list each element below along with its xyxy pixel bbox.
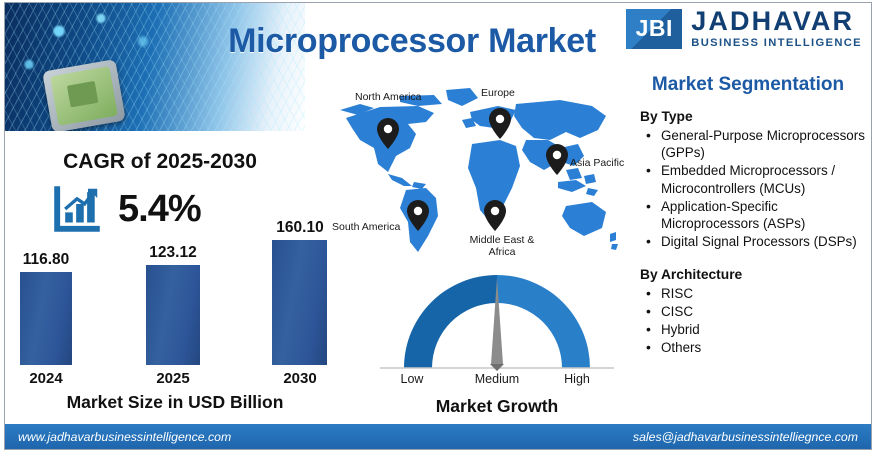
map-label-asia-pacific: Asia Pacific — [570, 157, 624, 169]
bar-value-2025: 123.12 — [135, 244, 211, 262]
list-item: Digital Signal Processors (DSPs) — [640, 233, 866, 250]
bar-2024 — [20, 272, 72, 365]
world-map: North America Europe Asia Pacific South … — [330, 82, 620, 267]
gauge-tick-high: High — [542, 372, 612, 386]
gauge-tick-medium: Medium — [462, 372, 532, 386]
microprocessor-chip-icon — [42, 59, 126, 131]
bar-chart-caption: Market Size in USD Billion — [10, 392, 340, 413]
segmentation-spacer — [640, 252, 866, 266]
footer-website-link[interactable]: www.jadhavarbusinessintelligence.com — [18, 430, 231, 444]
bar-category-2030: 2030 — [262, 370, 338, 387]
list-item: CISC — [640, 303, 866, 320]
list-item: Embedded Microprocessors / Microcontroll… — [640, 162, 866, 197]
segmentation-heading-by-type: By Type — [640, 108, 866, 126]
bar-value-2030: 160.10 — [262, 219, 338, 237]
bar-2030 — [272, 240, 327, 365]
logo-badge-text: JBI — [636, 15, 673, 42]
logo-badge-jbi: JBI — [626, 9, 682, 49]
list-item: Others — [640, 339, 866, 356]
segmentation-list-by-architecture: RISC CISC Hybrid Others — [640, 285, 866, 357]
map-label-europe: Europe — [481, 87, 515, 99]
gauge-tick-low: Low — [377, 372, 447, 386]
list-item: Hybrid — [640, 321, 866, 338]
segmentation-heading-by-architecture: By Architecture — [640, 266, 866, 284]
list-item: RISC — [640, 285, 866, 302]
infographic-canvas: Microprocessor Market JBI JADHAVAR BUSIN… — [0, 0, 876, 456]
list-item: Application-Specific Microprocessors (AS… — [640, 198, 866, 233]
map-label-north-america: North America — [355, 91, 422, 103]
company-logo[interactable]: JBI JADHAVAR BUSINESS INTELLIGENCE — [626, 8, 862, 49]
footer-email-link[interactable]: sales@jadhavarbusinessintelliegnce.com — [633, 430, 858, 444]
cagr-row: 5.4% — [50, 182, 201, 236]
map-label-south-america: South America — [332, 221, 400, 233]
logo-tagline: BUSINESS INTELLIGENCE — [691, 38, 862, 49]
market-growth-caption: Market Growth — [372, 396, 622, 417]
bar-value-2024: 116.80 — [8, 251, 84, 269]
page-title: Microprocessor Market — [212, 22, 612, 61]
logo-company-name: JADHAVAR — [691, 8, 862, 35]
cagr-heading: CAGR of 2025-2030 — [40, 150, 280, 174]
market-growth-gauge: Low Medium High — [372, 272, 622, 392]
gauge-svg — [372, 272, 622, 377]
segmentation-body: By Type General-Purpose Microprocessors … — [640, 108, 866, 358]
segmentation-title: Market Segmentation — [628, 74, 868, 96]
bar-category-2024: 2024 — [8, 370, 84, 387]
cagr-value: 5.4% — [118, 188, 201, 231]
segmentation-list-by-type: General-Purpose Microprocessors (GPPs) E… — [640, 127, 866, 251]
bar-2025 — [146, 265, 200, 365]
bar-category-2025: 2025 — [135, 370, 211, 387]
footer-bar: www.jadhavarbusinessintelligence.com sal… — [5, 424, 871, 449]
list-item: General-Purpose Microprocessors (GPPs) — [640, 127, 866, 162]
bar-chart-growth-icon — [50, 182, 104, 236]
map-label-middle-east-africa: Middle East & Africa — [457, 234, 547, 259]
